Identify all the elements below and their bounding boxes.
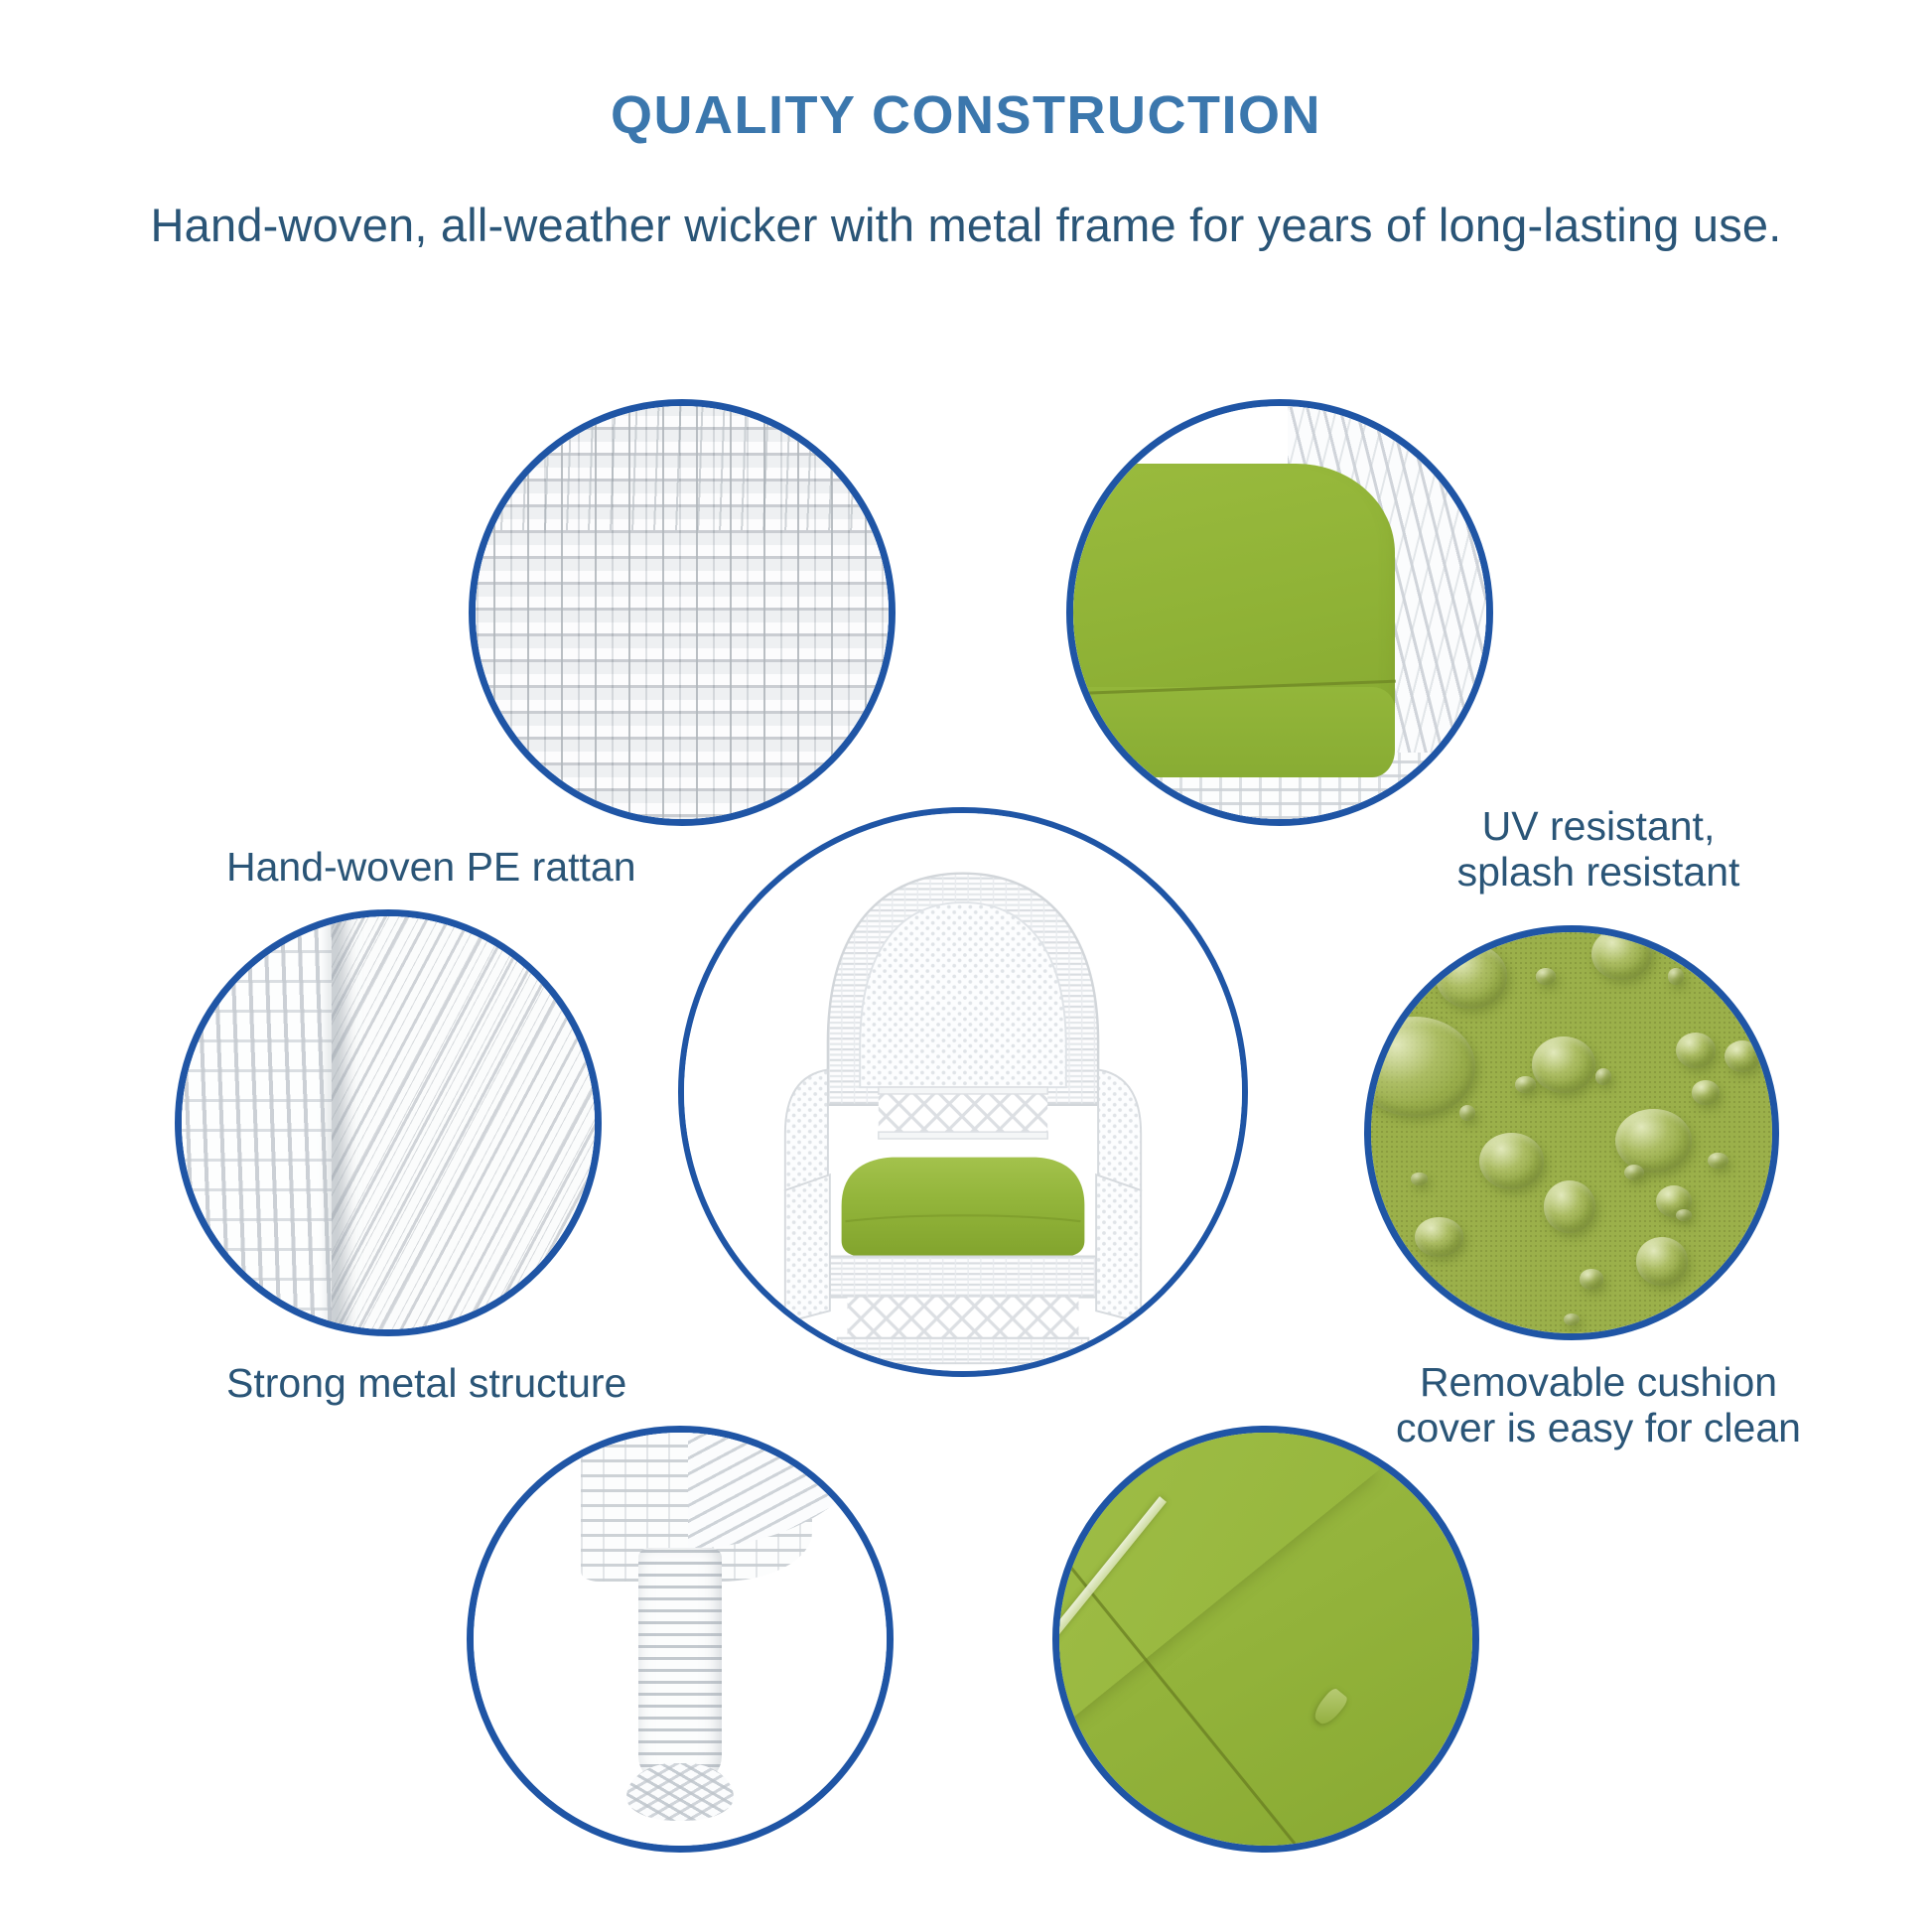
water-droplet	[1615, 1109, 1692, 1173]
leg-shaft	[638, 1548, 721, 1779]
weave-panel-right	[332, 916, 595, 1329]
water-droplet	[1544, 1180, 1596, 1233]
wicker-leg-art	[474, 1433, 887, 1846]
feature-circle-removable-cushion-cover[interactable]	[1364, 925, 1779, 1340]
wicker-chair-illustration	[684, 813, 1242, 1371]
water-droplet	[1676, 1209, 1692, 1221]
seat-cushion	[842, 1158, 1085, 1257]
chair-lattice-rail-bottom	[879, 1132, 1047, 1139]
header-block: QUALITY CONSTRUCTION Hand-woven, all-wea…	[0, 0, 1932, 253]
water-droplet	[1591, 932, 1652, 980]
water-droplet	[1595, 1068, 1611, 1084]
hero-circle-product-chair[interactable]	[678, 807, 1248, 1377]
caption-hand-woven-pe-rattan: Hand-woven PE rattan	[226, 845, 753, 891]
feature-circle-uv-splash-resistant[interactable]	[1066, 399, 1493, 826]
chair-arm-left	[785, 1069, 828, 1189]
water-droplet	[1580, 1269, 1603, 1289]
droplet-fabric-scene	[1371, 932, 1772, 1333]
quality-construction-infographic: QUALITY CONSTRUCTION Hand-woven, all-wea…	[0, 0, 1932, 1932]
weave-arc-highlight	[476, 406, 889, 530]
feature-circle-strong-metal-structure[interactable]	[175, 909, 602, 1336]
water-droplet	[1536, 968, 1556, 984]
water-droplet	[1676, 1033, 1716, 1068]
water-droplet	[1459, 1105, 1475, 1121]
chair-seat-apron	[830, 1256, 1096, 1297]
chair-leg-front-right	[1096, 1363, 1123, 1371]
leg-foot	[626, 1763, 734, 1821]
water-droplet	[1479, 1133, 1544, 1189]
diagonal-weave-texture	[182, 916, 595, 1329]
feature-circle-hand-woven-pe-rattan[interactable]	[469, 399, 896, 826]
page-subtitle: Hand-woven, all-weather wicker with meta…	[0, 144, 1932, 253]
weave-texture	[476, 406, 889, 819]
chair-lower-lattice	[847, 1298, 1078, 1340]
wicker-weave-image	[476, 406, 889, 819]
water-droplet	[1532, 1036, 1596, 1093]
armrest-corner-image	[182, 916, 595, 1329]
zipper-scene	[1059, 1433, 1472, 1846]
chair-backrest-lattice	[879, 1091, 1047, 1136]
water-droplet	[1515, 1076, 1535, 1092]
caption-uv-splash-resistant: UV resistant, splash resistant	[1390, 804, 1807, 896]
product-chair-image	[684, 813, 1242, 1371]
cushion-on-wicker-image	[1073, 406, 1486, 819]
water-droplet	[1371, 1017, 1475, 1117]
water-droplet	[1411, 1173, 1427, 1184]
water-droplet	[1692, 1080, 1720, 1104]
water-droplet	[1415, 1217, 1462, 1257]
water-droplet	[1636, 1237, 1689, 1285]
green-cushion-lower	[1073, 687, 1395, 778]
chair-lattice-rail-top	[879, 1087, 1047, 1094]
chair-arm-right	[1098, 1069, 1141, 1189]
chair-leg-image	[474, 1433, 887, 1846]
water-droplet	[1708, 1153, 1727, 1169]
water-droplet	[1564, 1313, 1580, 1325]
cushion-scene	[1073, 406, 1486, 819]
chair-side-panel-right	[1096, 1174, 1141, 1322]
zipper-slider	[1311, 1687, 1350, 1728]
water-droplet	[1725, 1040, 1760, 1072]
chair-lower-rail	[838, 1338, 1089, 1363]
water-droplet	[1436, 944, 1508, 1009]
chair-leg-front-left	[802, 1363, 829, 1371]
water-droplets-image	[1371, 932, 1772, 1333]
feature-circle-cushion-zipper-detail[interactable]	[1052, 1426, 1479, 1853]
weave-edge-shadow	[321, 916, 354, 1329]
water-droplet	[1624, 1165, 1644, 1180]
water-droplet	[1668, 968, 1684, 984]
feature-circle-chair-leg-detail[interactable]	[467, 1426, 894, 1853]
chair-side-panel-left	[785, 1174, 830, 1322]
page-title: QUALITY CONSTRUCTION	[0, 0, 1932, 144]
leg-curve-weave	[688, 1433, 878, 1548]
cushion-zipper-image	[1059, 1433, 1472, 1846]
